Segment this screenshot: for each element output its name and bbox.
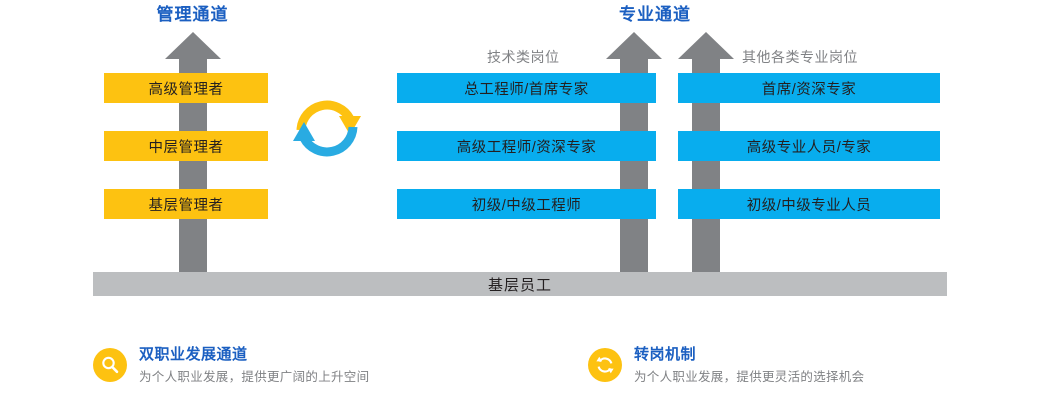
refresh-cycle-icon-badge xyxy=(588,348,622,382)
base-employee-bar: 基层员工 xyxy=(93,272,947,296)
career-path-diagram: 管理通道 专业通道 技术类岗位 其他各类专业岗位 高级管理者 中层管理者 基层管… xyxy=(0,0,1039,407)
footer-desc-dual-career-path: 为个人职业发展，提供更广阔的上升空间 xyxy=(139,368,369,386)
footer-title-transfer-mechanism: 转岗机制 xyxy=(634,345,864,365)
management-column-title: 管理通道 xyxy=(120,0,265,25)
management-level-3: 基层管理者 xyxy=(104,189,268,219)
refresh-cycle-icon xyxy=(594,354,616,376)
exchange-arrows-icon xyxy=(291,97,363,164)
footer-item-dual-career-path: 双职业发展通道 为个人职业发展，提供更广阔的上升空间 xyxy=(93,345,369,386)
management-level-1: 高级管理者 xyxy=(104,73,268,103)
technical-jobs-note: 技术类岗位 xyxy=(487,47,560,67)
technical-level-1: 总工程师/首席专家 xyxy=(397,73,656,103)
management-arrow-head xyxy=(165,32,221,59)
other-professional-level-3: 初级/中级专业人员 xyxy=(678,189,940,219)
technical-level-3: 初级/中级工程师 xyxy=(397,189,656,219)
other-professional-arrow-head xyxy=(678,32,734,59)
management-level-2: 中层管理者 xyxy=(104,131,268,161)
footer-desc-transfer-mechanism: 为个人职业发展，提供更灵活的选择机会 xyxy=(634,368,864,386)
footer-item-transfer-mechanism: 转岗机制 为个人职业发展，提供更灵活的选择机会 xyxy=(588,345,864,386)
professional-column-title: 专业通道 xyxy=(535,0,775,25)
search-icon xyxy=(100,355,120,375)
other-professional-level-1: 首席/资深专家 xyxy=(678,73,940,103)
search-icon-badge xyxy=(93,348,127,382)
technical-level-2: 高级工程师/资深专家 xyxy=(397,131,656,161)
other-professional-level-2: 高级专业人员/专家 xyxy=(678,131,940,161)
footer-title-dual-career-path: 双职业发展通道 xyxy=(139,345,369,365)
technical-arrow-head xyxy=(606,32,662,59)
other-professional-jobs-note: 其他各类专业岗位 xyxy=(742,47,858,67)
